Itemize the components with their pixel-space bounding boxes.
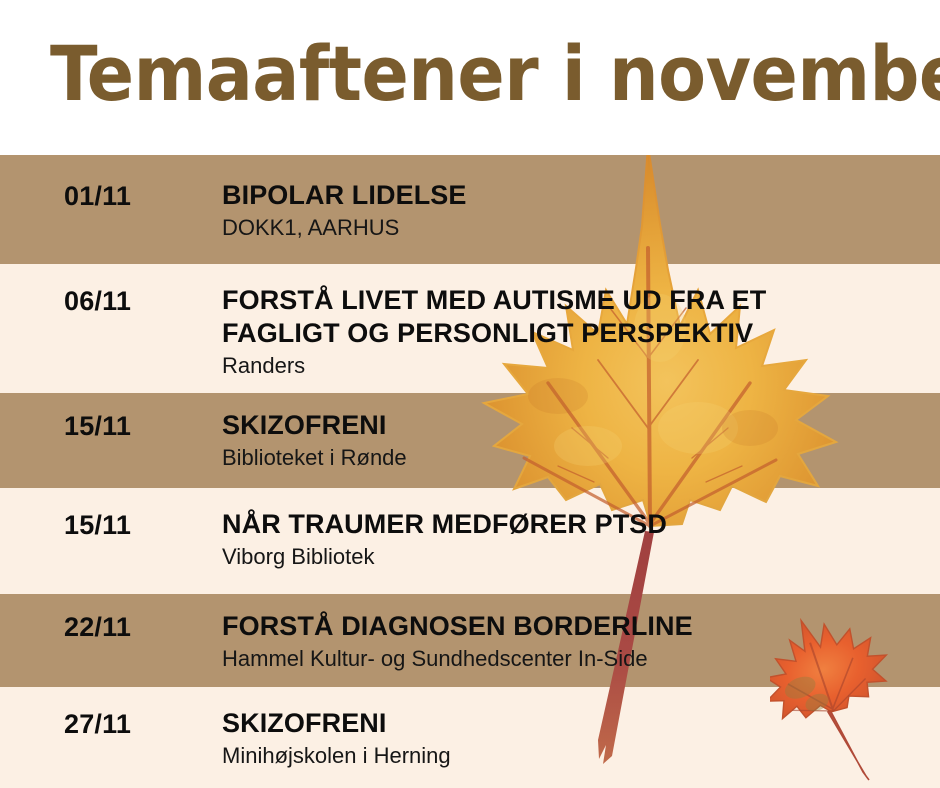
event-title: SKIZOFRENI [222, 409, 930, 442]
event-body: SKIZOFRENI Biblioteket i Rønde [222, 409, 930, 472]
event-title: SKIZOFRENI [222, 707, 930, 740]
schedule-row: 27/11 SKIZOFRENI Minihøjskolen i Herning [0, 687, 940, 788]
event-date: 01/11 [64, 181, 131, 212]
event-venue: DOKK1, AARHUS [222, 214, 930, 242]
event-date: 06/11 [64, 286, 131, 317]
schedule-row: 06/11 FORSTÅ LIVET MED AUTISME UD FRA ET… [0, 264, 940, 393]
event-venue: Minihøjskolen i Herning [222, 742, 930, 770]
schedule-row: 01/11 BIPOLAR LIDELSE DOKK1, AARHUS [0, 155, 940, 264]
event-title: FORSTÅ DIAGNOSEN BORDERLINE [222, 610, 930, 643]
event-title: NÅR TRAUMER MEDFØRER PTSD [222, 508, 930, 541]
header-band: Temaaftener i november [0, 0, 940, 155]
event-date: 15/11 [64, 411, 131, 442]
event-date: 22/11 [64, 612, 131, 643]
event-date: 27/11 [64, 709, 131, 740]
page-title: Temaaftener i november [50, 26, 927, 122]
event-venue: Randers [222, 352, 930, 380]
event-body: NÅR TRAUMER MEDFØRER PTSD Viborg Bibliot… [222, 508, 930, 571]
event-title: BIPOLAR LIDELSE [222, 179, 930, 212]
event-title: FORSTÅ LIVET MED AUTISME UD FRA ET FAGLI… [222, 284, 930, 350]
schedule-row: 15/11 SKIZOFRENI Biblioteket i Rønde [0, 393, 940, 488]
schedule-row: 15/11 NÅR TRAUMER MEDFØRER PTSD Viborg B… [0, 488, 940, 594]
event-venue: Viborg Bibliotek [222, 543, 930, 571]
event-venue: Biblioteket i Rønde [222, 444, 930, 472]
schedule-row: 22/11 FORSTÅ DIAGNOSEN BORDERLINE Hammel… [0, 594, 940, 687]
event-body: FORSTÅ LIVET MED AUTISME UD FRA ET FAGLI… [222, 284, 930, 380]
event-body: BIPOLAR LIDELSE DOKK1, AARHUS [222, 179, 930, 242]
event-body: SKIZOFRENI Minihøjskolen i Herning [222, 707, 930, 770]
event-body: FORSTÅ DIAGNOSEN BORDERLINE Hammel Kultu… [222, 610, 930, 673]
schedule-text-layer: 01/11 BIPOLAR LIDELSE DOKK1, AARHUS 06/1… [0, 155, 940, 788]
event-venue: Hammel Kultur- og Sundhedscenter In-Side [222, 645, 930, 673]
poster-canvas: Temaaftener i november 01/11 BIPOLAR LID… [0, 0, 940, 788]
event-date: 15/11 [64, 510, 131, 541]
